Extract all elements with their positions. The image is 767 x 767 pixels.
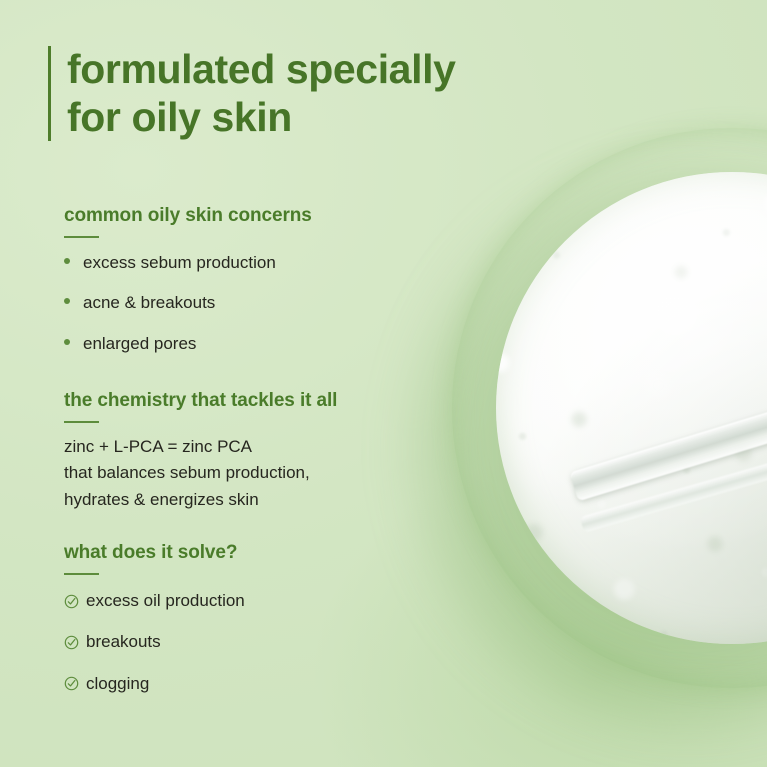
check-circle-icon — [64, 635, 79, 650]
list-item: breakouts — [64, 632, 464, 652]
section-common-concerns: common oily skin concerns excess sebum p… — [64, 205, 464, 373]
section-heading-chemistry: the chemistry that tackles it all — [64, 390, 464, 412]
headline-accent-bar — [48, 46, 51, 141]
bullet-dot-icon — [64, 258, 70, 264]
concerns-list: excess sebum production acne & breakouts… — [64, 252, 464, 354]
list-item-label: enlarged pores — [83, 333, 196, 354]
list-item: enlarged pores — [64, 333, 464, 354]
solves-list: excess oil production breakouts — [64, 591, 464, 694]
list-item-label: excess sebum production — [83, 252, 276, 273]
product-infographic: formulated specially for oily skin commo… — [0, 0, 767, 767]
petri-dish-photo — [452, 128, 767, 688]
content-column: formulated specially for oily skin commo… — [0, 0, 470, 767]
check-circle-icon — [64, 676, 79, 691]
section-chemistry: the chemistry that tackles it all zinc +… — [64, 390, 464, 513]
section-what-it-solves: what does it solve? excess oil productio… — [64, 542, 464, 715]
bullet-dot-icon — [64, 298, 70, 304]
section-heading-concerns: common oily skin concerns — [64, 205, 464, 227]
heading-rule — [64, 573, 99, 575]
check-circle-icon — [64, 594, 79, 609]
list-item-label: breakouts — [86, 632, 161, 652]
list-item-label: acne & breakouts — [83, 292, 215, 313]
section-heading-solve: what does it solve? — [64, 542, 464, 564]
list-item: clogging — [64, 674, 464, 694]
list-item: excess sebum production — [64, 252, 464, 273]
heading-rule — [64, 421, 99, 423]
list-item-label: clogging — [86, 674, 149, 694]
headline-block: formulated specially for oily skin — [48, 46, 455, 141]
page-title: formulated specially for oily skin — [67, 46, 455, 141]
chemistry-body-text: zinc + L-PCA = zinc PCA that balances se… — [64, 434, 464, 513]
bullet-dot-icon — [64, 339, 70, 345]
heading-rule — [64, 236, 99, 238]
list-item-label: excess oil production — [86, 591, 245, 611]
list-item: excess oil production — [64, 591, 464, 611]
list-item: acne & breakouts — [64, 292, 464, 313]
